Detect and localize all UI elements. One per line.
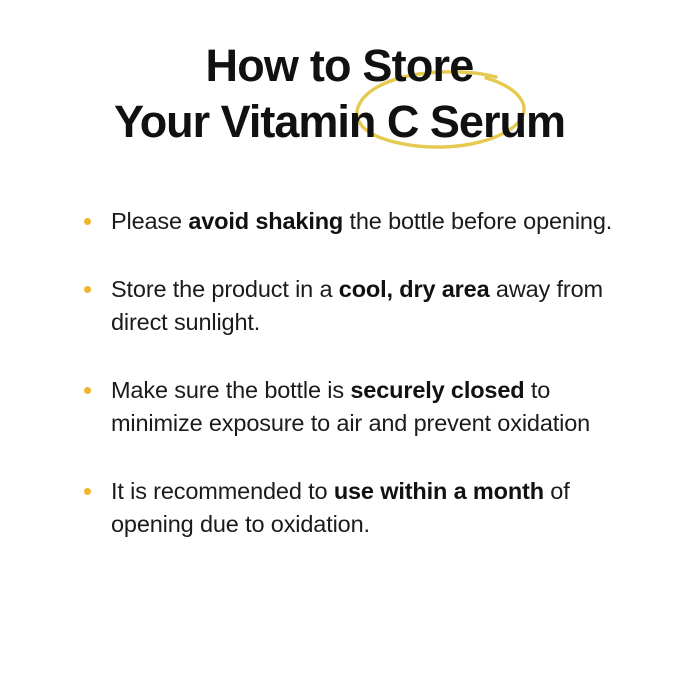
instruction-list: Please avoid shaking the bottle before o… (80, 205, 640, 541)
bullet-dot-icon (84, 387, 91, 394)
list-item: It is recommended to use within a month … (80, 475, 640, 541)
bullet-dot-icon (84, 488, 91, 495)
bullet-dot-icon (84, 218, 91, 225)
list-item-text: Make sure the bottle is securely closed … (111, 374, 640, 440)
page-title: How to Store Your Vitamin C Serum (0, 38, 679, 150)
list-item: Please avoid shaking the bottle before o… (80, 205, 640, 238)
title-text-before-highlight: How to (206, 40, 363, 91)
list-item: Make sure the bottle is securely closed … (80, 374, 640, 440)
storage-instructions-card: How to Store Your Vitamin C Serum Please… (0, 0, 679, 679)
list-item-text: Please avoid shaking the bottle before o… (111, 205, 640, 238)
list-item-text: Store the product in a cool, dry area aw… (111, 273, 640, 339)
title-text-highlight: Store (362, 40, 473, 91)
title-line-one: How to Store (0, 38, 679, 94)
title-line-two: Your Vitamin C Serum (0, 94, 679, 150)
list-item: Store the product in a cool, dry area aw… (80, 273, 640, 339)
list-item-text: It is recommended to use within a month … (111, 475, 640, 541)
bullet-dot-icon (84, 286, 91, 293)
